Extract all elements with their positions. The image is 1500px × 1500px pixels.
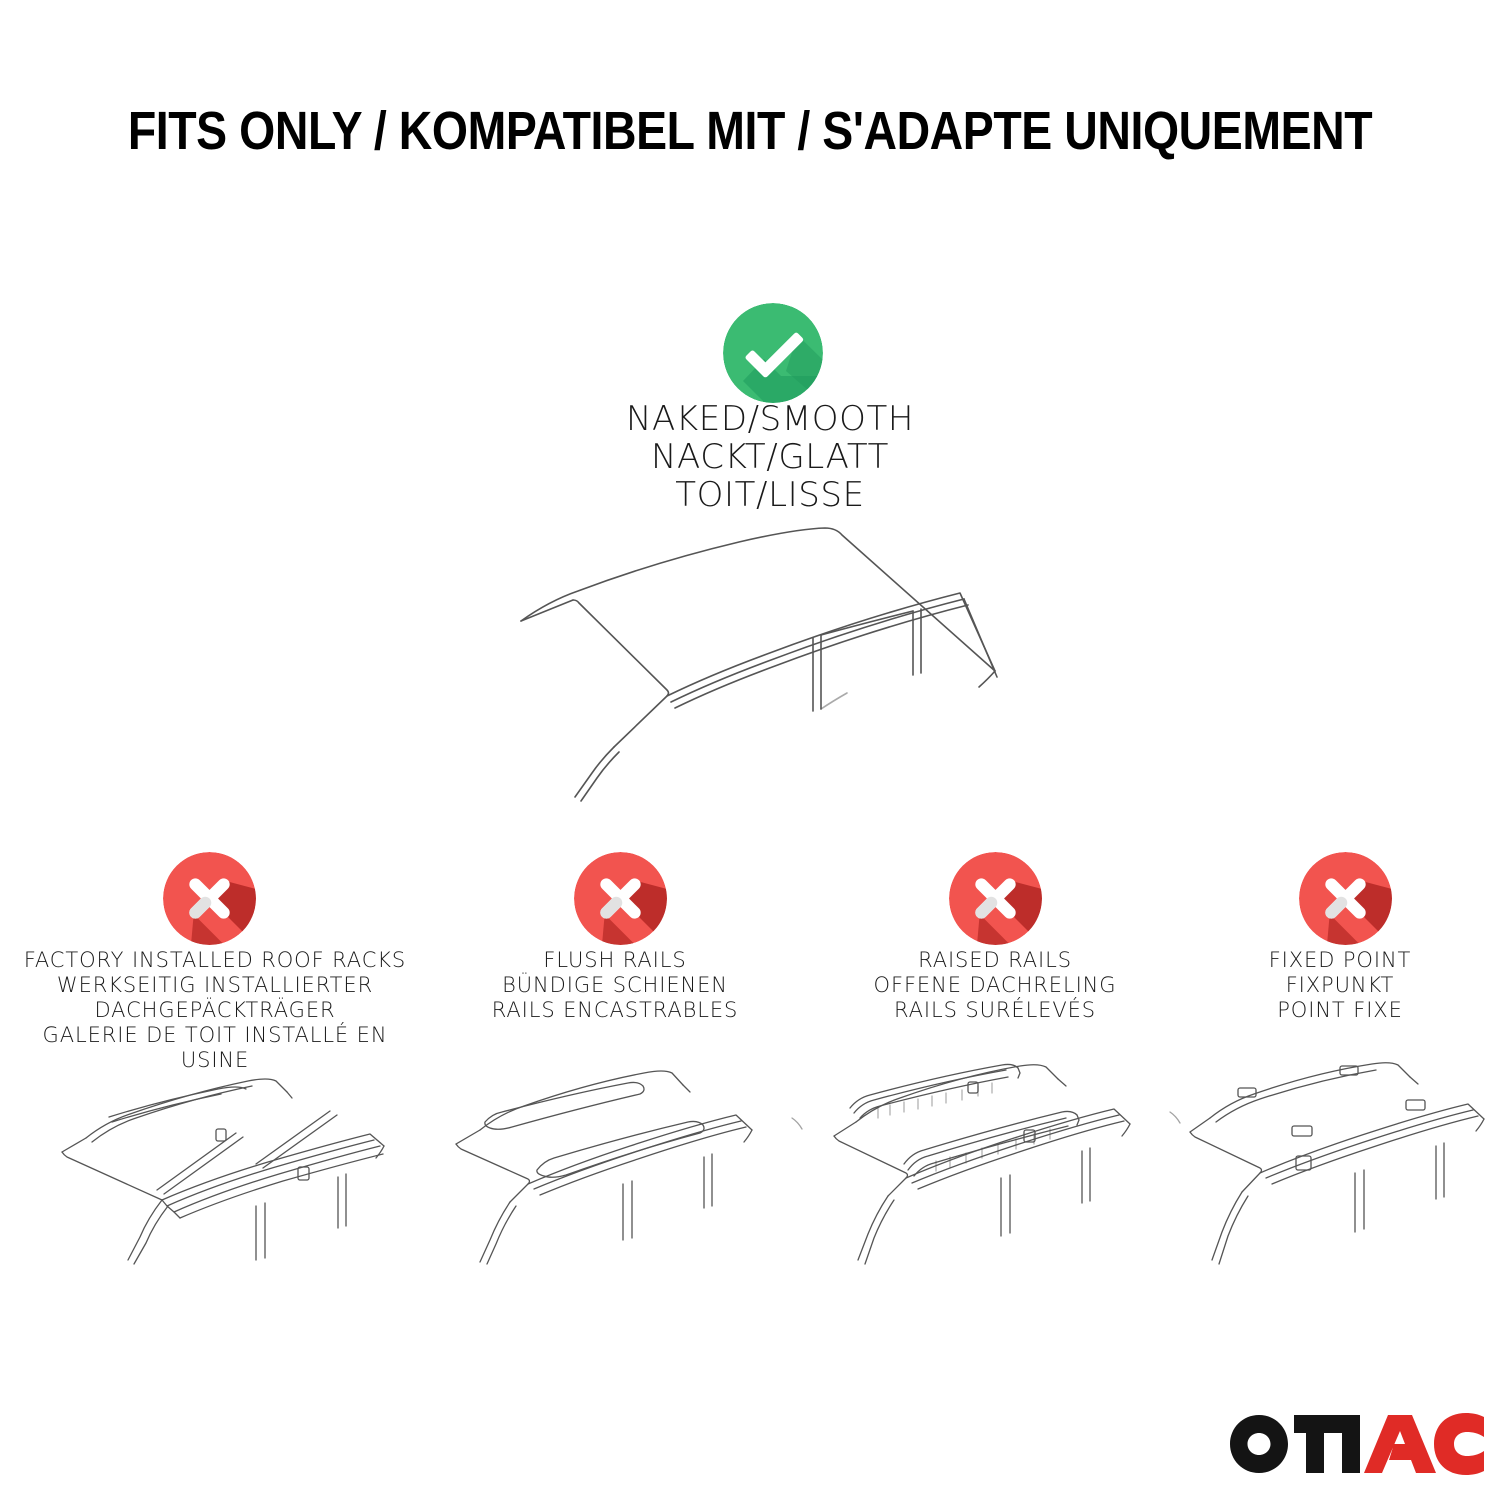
incompatible-section: FACTORY INSTALLED ROOF RACKS WERKSEITIG … — [0, 0, 1500, 1500]
caption-line-en: FLUSH RAILS — [435, 948, 795, 973]
caption-line-en: RAISED RAILS — [805, 948, 1185, 973]
caption-line-fr: POINT FIXE — [1180, 998, 1500, 1023]
logo-letter-a — [1364, 1415, 1436, 1473]
logo-letter-c — [1434, 1413, 1484, 1475]
omac-logo — [1228, 1413, 1486, 1475]
logo-letter-o — [1230, 1415, 1288, 1473]
caption-line-de-2: DACHGEPÄCKTRÄGER — [18, 998, 412, 1023]
caption-line-de-1: WERKSEITIG INSTALLIERTER — [18, 973, 412, 998]
factory-roof-rack-roof-illustration — [40, 1060, 430, 1265]
cross-icon — [949, 852, 1042, 945]
caption-line-en: FACTORY INSTALLED ROOF RACKS — [18, 948, 412, 973]
flush-rails-roof-illustration — [440, 1060, 810, 1265]
raised-rails-roof-illustration — [820, 1060, 1190, 1265]
incompatible-caption: FIXED POINT FIXPUNKT POINT FIXE — [1180, 948, 1500, 1023]
incompatible-caption: RAISED RAILS OFFENE DACHRELING RAILS SUR… — [805, 948, 1185, 1023]
cross-icon — [163, 852, 256, 945]
caption-line-de: BÜNDIGE SCHIENEN — [435, 973, 795, 998]
caption-line-de: FIXPUNKT — [1180, 973, 1500, 998]
cross-icon — [574, 852, 667, 945]
caption-line-de: OFFENE DACHRELING — [805, 973, 1185, 998]
caption-line-fr: RAILS ENCASTRABLES — [435, 998, 795, 1023]
logo-letter-m — [1294, 1415, 1360, 1473]
fixed-point-roof-illustration — [1180, 1060, 1500, 1265]
incompatible-caption: FACTORY INSTALLED ROOF RACKS WERKSEITIG … — [18, 948, 412, 1073]
caption-line-fr: RAILS SURÉLEVÉS — [805, 998, 1185, 1023]
caption-line-en: FIXED POINT — [1180, 948, 1500, 973]
incompatible-caption: FLUSH RAILS BÜNDIGE SCHIENEN RAILS ENCAS… — [435, 948, 795, 1023]
cross-icon — [1299, 852, 1392, 945]
